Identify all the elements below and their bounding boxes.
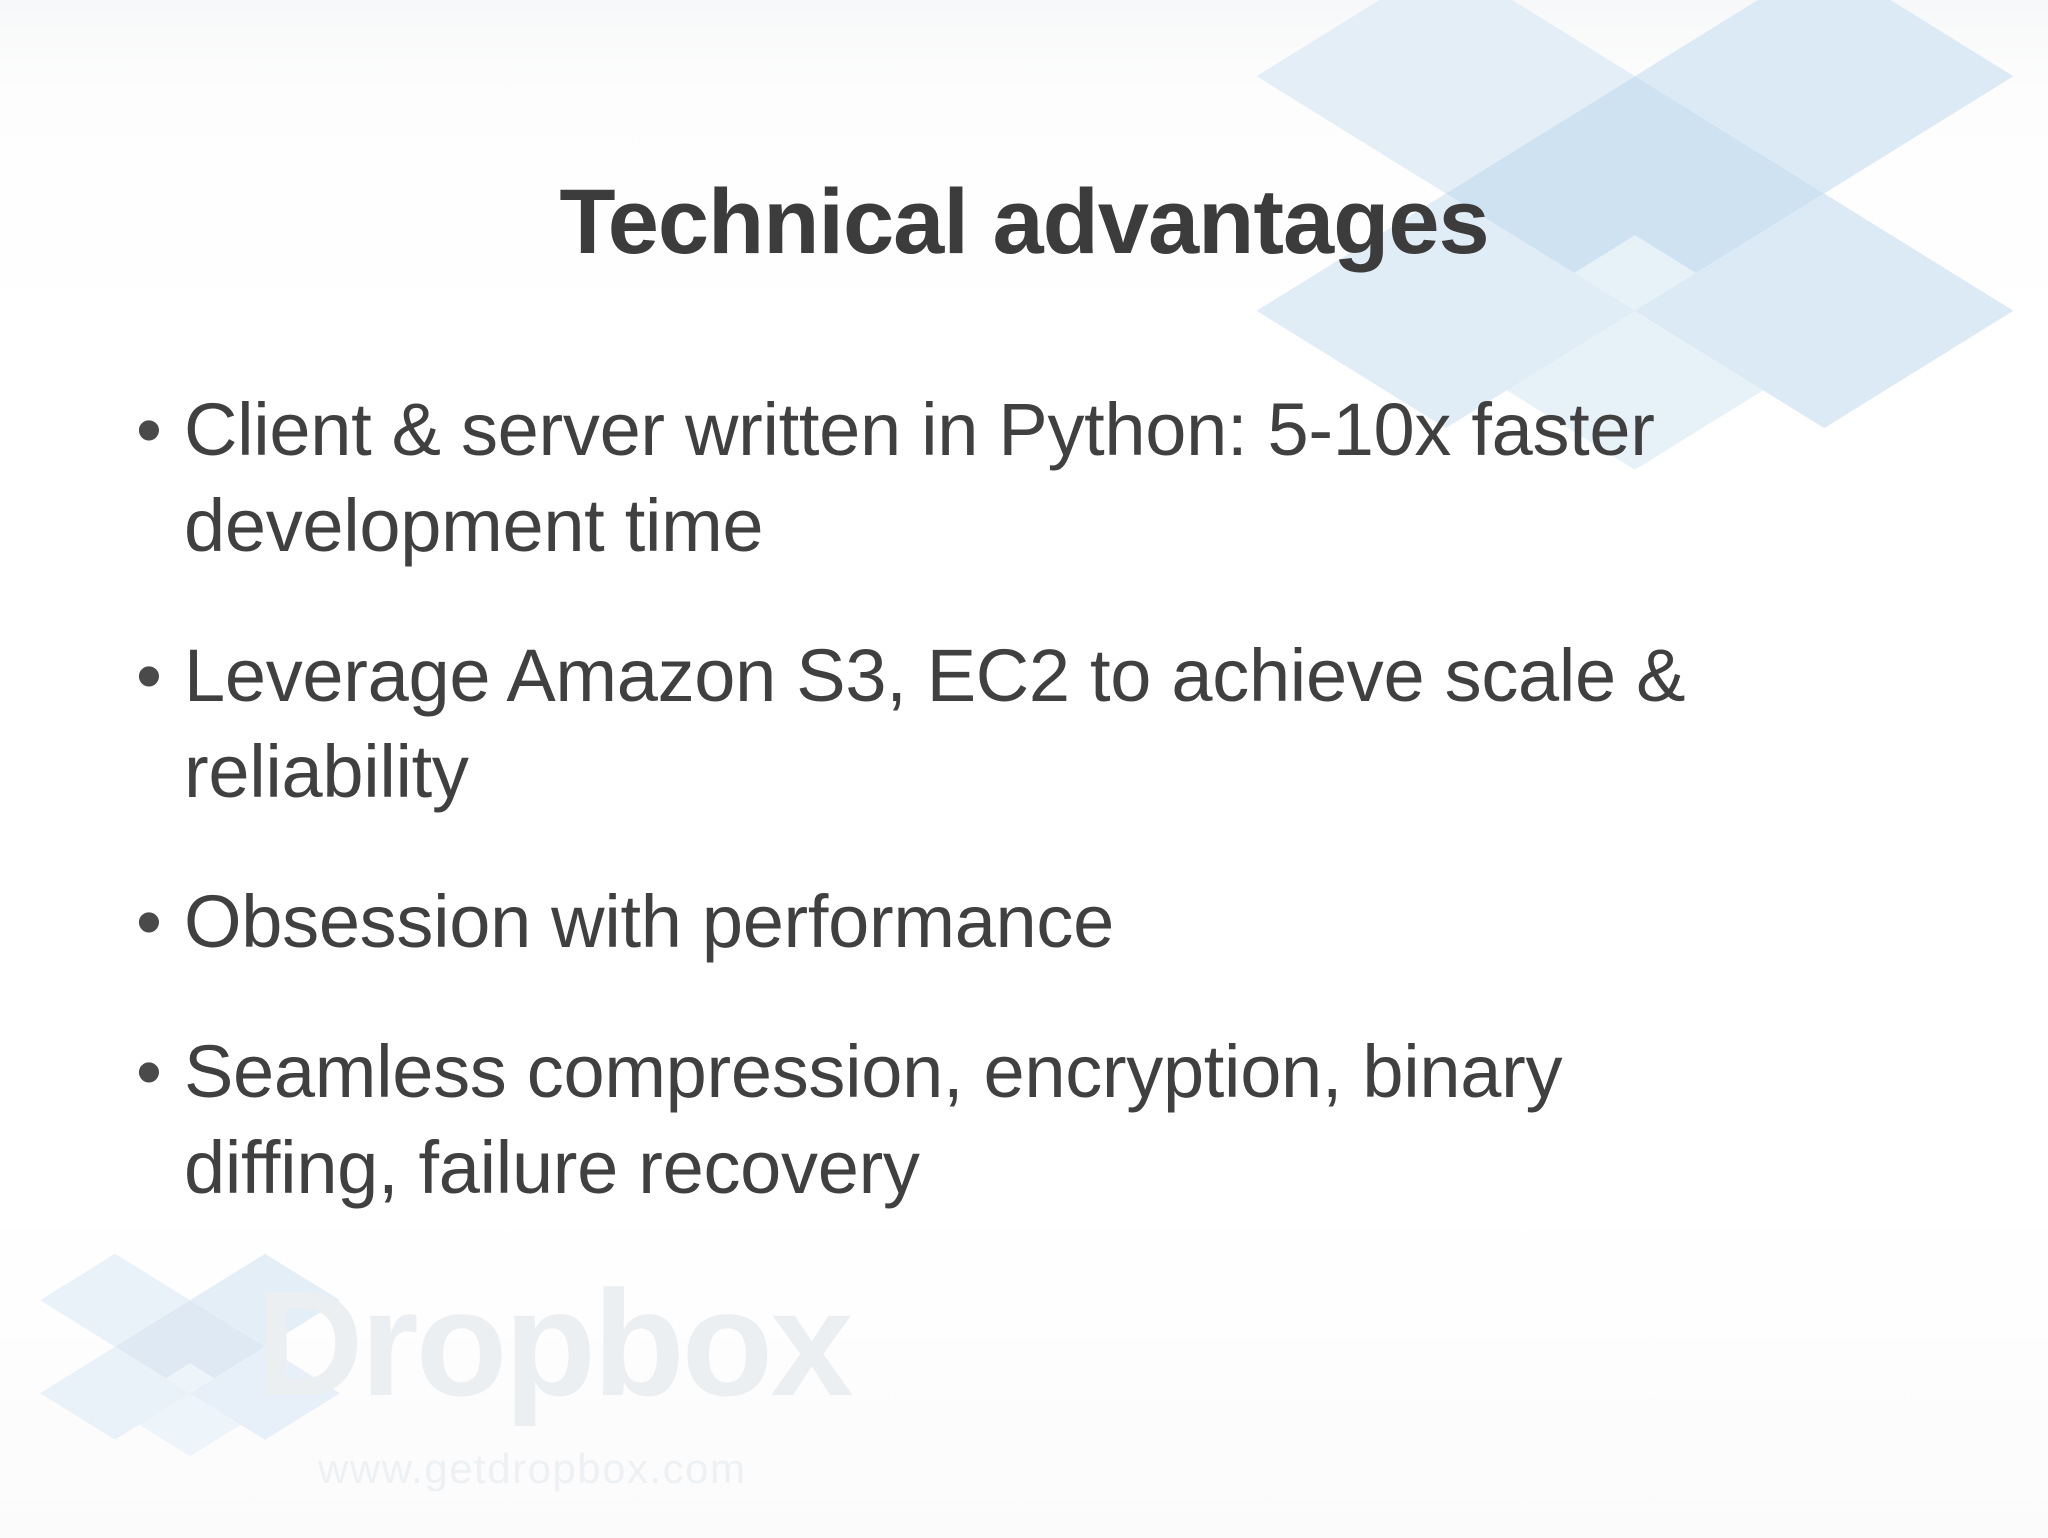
bullet-text: Obsession with performance xyxy=(184,874,1744,970)
list-item: • Leverage Amazon S3, EC2 to achieve sca… xyxy=(130,628,1940,820)
dropbox-box-logo-secondary-icon xyxy=(40,1235,340,1535)
bullet-dot-icon: • xyxy=(130,1024,184,1120)
dropbox-wordmark-watermark: Dropbox xyxy=(255,1268,851,1418)
bullet-text: Leverage Amazon S3, EC2 to achieve scale… xyxy=(184,628,1744,820)
slide-canvas: Dropbox www.getdropbox.com Technical adv… xyxy=(0,0,2048,1538)
slide-title: Technical advantages xyxy=(0,174,2048,271)
bullet-dot-icon: • xyxy=(130,382,184,478)
list-item: • Seamless compression, encryption, bina… xyxy=(130,1024,1940,1216)
bullet-dot-icon: • xyxy=(130,874,184,970)
bullet-text: Seamless compression, encryption, binary… xyxy=(184,1024,1744,1216)
bullet-dot-icon: • xyxy=(130,628,184,724)
list-item: • Obsession with performance xyxy=(130,874,1940,970)
bullet-text: Client & server written in Python: 5-10x… xyxy=(184,382,1744,574)
bullet-list: • Client & server written in Python: 5-1… xyxy=(130,382,1940,1216)
dropbox-url-watermark: www.getdropbox.com xyxy=(318,1448,747,1490)
list-item: • Client & server written in Python: 5-1… xyxy=(130,382,1940,574)
